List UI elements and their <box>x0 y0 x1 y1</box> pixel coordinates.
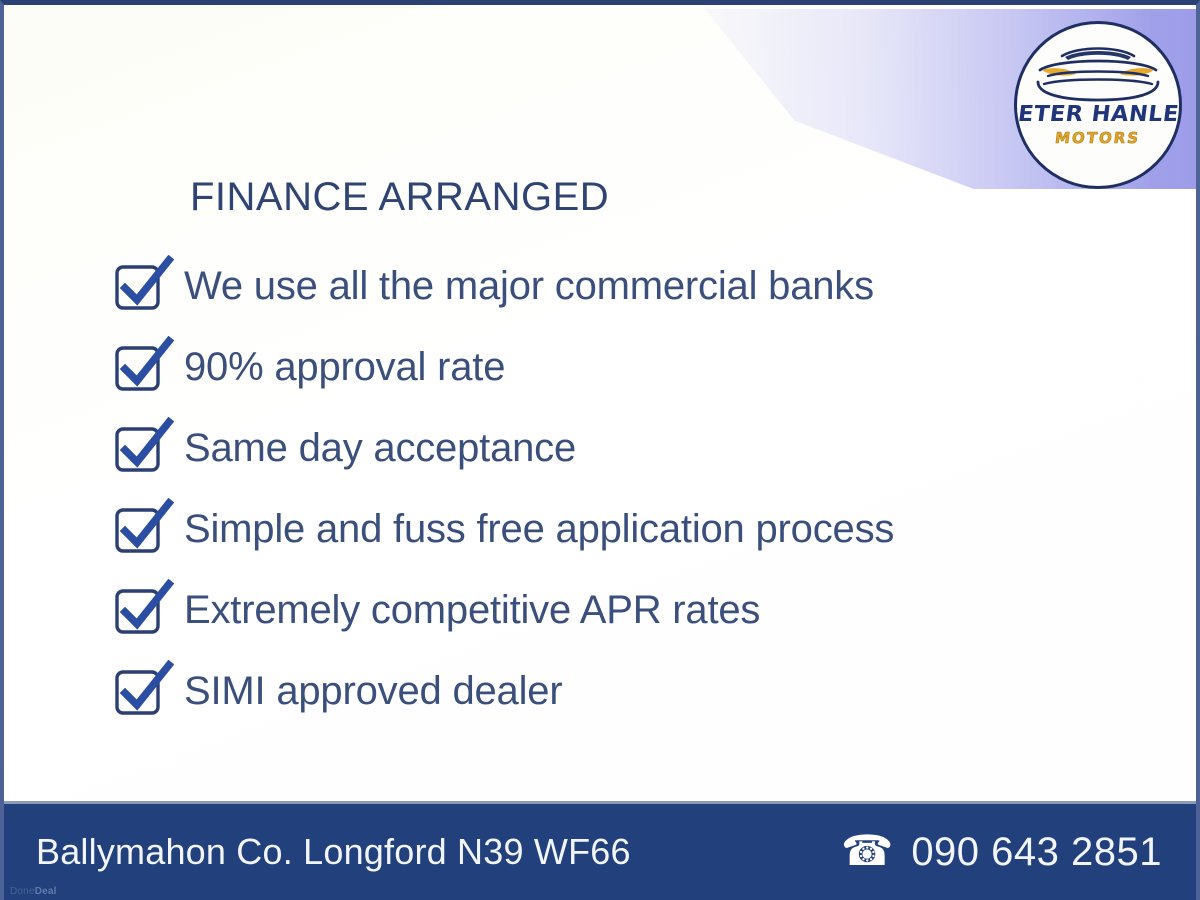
phone-contact[interactable]: ☎ 090 643 2851 <box>841 830 1162 875</box>
list-item-label: We use all the major commercial banks <box>184 266 874 306</box>
finance-poster: PETER HANLEY MOTORS FINANCE ARRANGED We … <box>0 0 1200 900</box>
logo-brand-name: PETER HANLEY <box>1014 104 1182 126</box>
list-item: Simple and fuss free application process <box>112 488 1112 569</box>
dealer-address: Ballymahon Co. Longford N39 WF66 <box>36 831 631 873</box>
checkbox-checked-icon <box>112 336 184 398</box>
list-item-label: Extremely competitive APR rates <box>184 590 760 630</box>
list-item-label: Same day acceptance <box>184 428 576 468</box>
checkbox-checked-icon <box>112 255 184 317</box>
list-item-label: Simple and fuss free application process <box>184 509 894 549</box>
logo-brand-subtitle: MOTORS <box>1055 131 1142 146</box>
contact-footer: Ballymahon Co. Longford N39 WF66 ☎ 090 6… <box>4 801 1196 900</box>
benefits-checklist: We use all the major commercial banks 90… <box>112 245 1112 731</box>
telephone-icon: ☎ <box>841 830 893 872</box>
donedeal-watermark: DoneDeal <box>10 886 57 897</box>
dealer-logo: PETER HANLEY MOTORS <box>1014 21 1182 189</box>
list-item: We use all the major commercial banks <box>112 245 1112 326</box>
list-item-label: 90% approval rate <box>184 347 505 387</box>
phone-number[interactable]: 090 643 2851 <box>911 830 1162 875</box>
checkbox-checked-icon <box>112 498 184 560</box>
list-item: Same day acceptance <box>112 407 1112 488</box>
car-front-icon <box>1032 40 1164 102</box>
checkbox-checked-icon <box>112 660 184 722</box>
list-item: SIMI approved dealer <box>112 650 1112 731</box>
list-item: 90% approval rate <box>112 326 1112 407</box>
watermark-suffix: Deal <box>35 886 57 897</box>
checkbox-checked-icon <box>112 579 184 641</box>
list-item-label: SIMI approved dealer <box>184 671 562 711</box>
watermark-prefix: Done <box>10 886 35 897</box>
page-title: FINANCE ARRANGED <box>190 175 609 220</box>
checkbox-checked-icon <box>112 417 184 479</box>
list-item: Extremely competitive APR rates <box>112 569 1112 650</box>
